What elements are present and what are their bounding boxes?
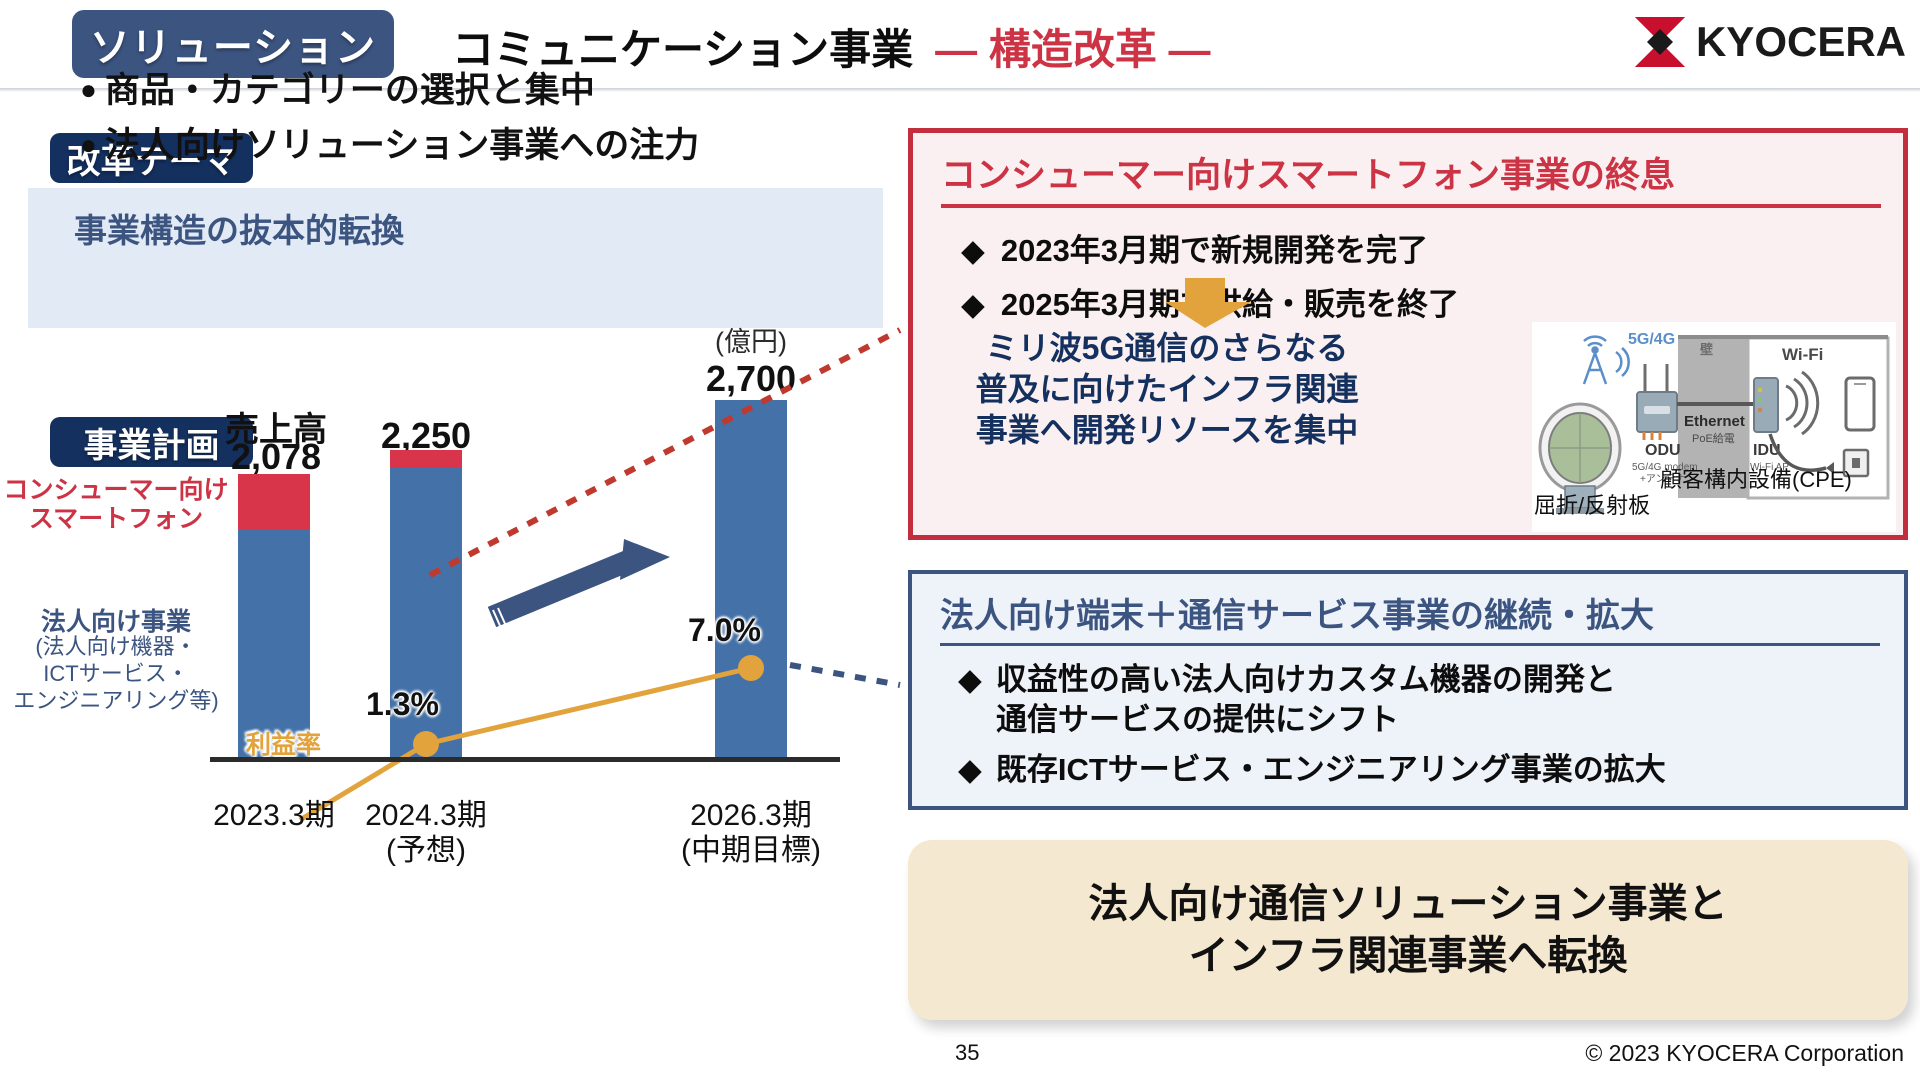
cpe-caption-cpe: 顧客構内設備(CPE) xyxy=(1660,462,1852,494)
panel-blue-bullet: ◆収益性の高い法人向けカスタム機器の開発と 通信サービスの提供にシフト xyxy=(958,660,1616,741)
x-tick-line1: 2023.3期 xyxy=(213,799,335,832)
panel-red-title: コンシューマー向けスマートフォン事業の終息 xyxy=(941,147,1881,208)
panel-red-focus-text: ミリ波5G通信のさらなる 普及に向けたインフラ関連 事業へ開発リソースを集中 xyxy=(942,328,1392,451)
focus-line3: 事業へ開発リソースを集中 xyxy=(976,412,1358,448)
reform-theme-bullet-text: 法人向けソリューション事業への注力 xyxy=(105,126,699,165)
chart-unit-label: (億円) xyxy=(656,320,846,359)
panel-red-bullet: ◆2023年3月期で新規開発を完了 xyxy=(961,225,1428,270)
panel-blue-bullet-line2: 通信サービスの提供にシフト xyxy=(996,700,1616,740)
cpe-caption-reflector: 屈折/反射板 xyxy=(1534,488,1650,520)
diamond-bullet-icon: ◆ xyxy=(958,662,982,697)
copyright-notice: © 2023 KYOCERA Corporation xyxy=(1585,1040,1904,1067)
profit-rate-point xyxy=(738,655,764,681)
svg-text:壁: 壁 xyxy=(1700,342,1713,357)
x-tick-line1: 2026.3期 xyxy=(690,799,812,832)
kyocera-logo: KYOCERA xyxy=(1634,16,1906,68)
bullet-dot-icon: ● xyxy=(80,129,97,160)
diamond-bullet-icon: ◆ xyxy=(961,287,985,322)
legend-consumer-smartphone: コンシューマー向け スマートフォン xyxy=(0,476,232,534)
panel-conclusion: 法人向け通信ソリューション事業と インフラ関連事業へ転換 xyxy=(908,840,1908,1020)
kyocera-mark-icon xyxy=(1634,16,1686,68)
x-tick-line2: (予想) xyxy=(386,834,466,867)
bar-segment-corporate xyxy=(238,530,310,757)
panel-blue-bullet-line1: 既存ICTサービス・エンジニアリング事業の拡大 xyxy=(996,752,1666,787)
legend-corporate-sub: (法人向け機器・ICTサービス・エンジニアリング等) xyxy=(0,634,232,714)
x-tick-line2: (中期目標) xyxy=(681,834,821,867)
profit-rate-label: 7.0% xyxy=(688,612,761,649)
svg-text:PoE給電: PoE給電 xyxy=(1692,431,1735,445)
svg-text:Ethernet: Ethernet xyxy=(1684,413,1745,430)
profit-rate-label: 1.3% xyxy=(366,686,439,723)
x-axis-tick: 2024.3期 (予想) xyxy=(336,798,516,869)
page-title-sub: ― 構造改革 ― xyxy=(935,26,1210,73)
panel-blue-bullet-line1: 収益性の高い法人向けカスタム機器の開発と xyxy=(996,662,1616,697)
bar-segment-consumer xyxy=(390,450,462,468)
bar-segment-consumer xyxy=(238,474,310,530)
x-axis-tick: 2026.3期 (中期目標) xyxy=(656,798,846,869)
focus-line2: 普及に向けたインフラ関連 xyxy=(975,371,1358,407)
diamond-bullet-icon: ◆ xyxy=(958,752,982,787)
bar-segment-corporate xyxy=(715,400,787,757)
profit-rate-point xyxy=(413,731,439,757)
bullet-dot-icon: ● xyxy=(80,74,97,105)
legend-corporate-title: 法人向け事業 xyxy=(0,602,232,638)
focus-line1: ミリ波5G通信のさらなる xyxy=(986,330,1349,366)
reform-theme-box: 事業構造の抜本的転換 xyxy=(28,188,883,328)
panel-blue-bullet: ◆既存ICTサービス・エンジニアリング事業の拡大 xyxy=(958,750,1666,790)
profit-rate-series-label: 利益率 xyxy=(246,725,321,761)
slide-canvas: ソリューション コミュニケーション事業― 構造改革 ― KYOCERA 改革テー… xyxy=(0,0,1920,1080)
reform-theme-heading: 事業構造の抜本的転換 xyxy=(74,204,404,252)
svg-text:Wi-Fi: Wi-Fi xyxy=(1782,345,1823,364)
svg-text:ODU: ODU xyxy=(1645,442,1681,459)
x-tick-line1: 2024.3期 xyxy=(365,799,487,832)
panel-blue-title: 法人向け端末＋通信サービス事業の継続・拡大 xyxy=(940,588,1880,646)
reform-theme-bullet-text: 商品・カテゴリーの選択と集中 xyxy=(105,71,595,110)
conclusion-line1: 法人向け通信ソリューション事業と xyxy=(1088,882,1727,926)
down-arrow-icon xyxy=(1163,278,1253,328)
kyocera-wordmark: KYOCERA xyxy=(1696,21,1906,63)
reform-theme-bullet: ●商品・カテゴリーの選択と集中 xyxy=(80,62,595,113)
panel-corporate-expansion: 法人向け端末＋通信サービス事業の継続・拡大 ◆収益性の高い法人向けカスタム機器の… xyxy=(908,570,1908,810)
legend-consumer-line1: コンシューマー向け xyxy=(3,476,228,504)
page-number: 35 xyxy=(955,1040,979,1066)
svg-text:5G/4G: 5G/4G xyxy=(1628,331,1675,348)
panel-red-bullet-text: 2023年3月期で新規開発を完了 xyxy=(1001,233,1428,268)
chart-x-axis xyxy=(210,757,840,762)
diamond-bullet-icon: ◆ xyxy=(961,233,985,268)
conclusion-text: 法人向け通信ソリューション事業と インフラ関連事業へ転換 xyxy=(1088,878,1727,982)
business-plan-chart: コンシューマー向け スマートフォン 法人向け事業 (法人向け機器・ICTサービス… xyxy=(0,420,880,1080)
legend-consumer-line2: スマートフォン xyxy=(29,505,203,533)
reform-theme-bullet: ●法人向けソリューション事業への注力 xyxy=(80,117,699,168)
bar-total-label: 2,700 xyxy=(656,358,846,400)
conclusion-line2: インフラ関連事業へ転換 xyxy=(1189,934,1628,978)
